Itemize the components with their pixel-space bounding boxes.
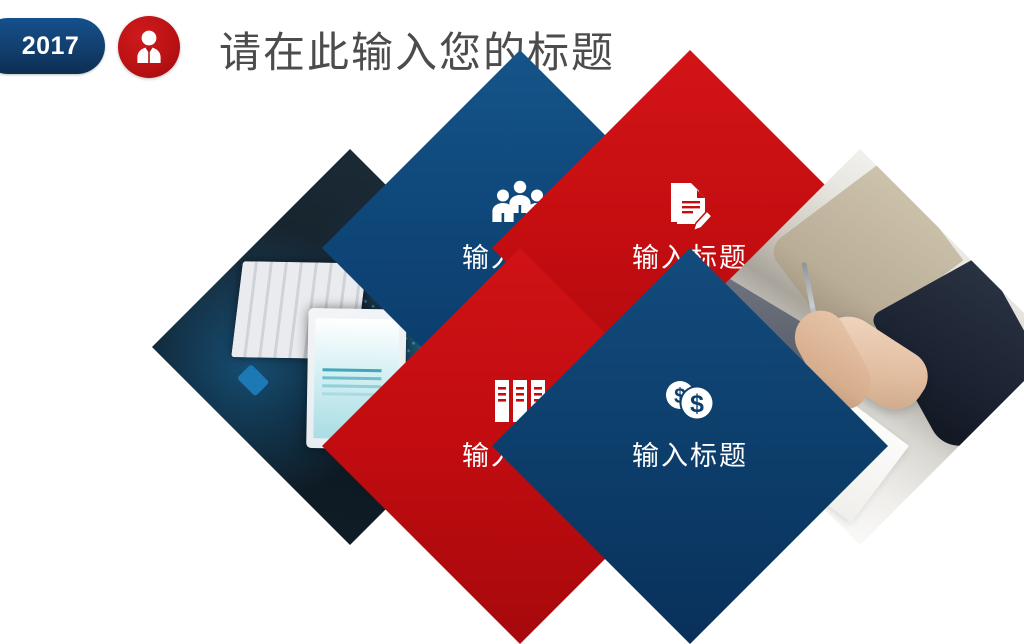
header-user-badge [118,16,180,78]
page-title: 请在此输入您的标题 [219,19,615,80]
diamond-cluster: 输入标题 输入标题 [175,149,855,545]
svg-text:$: $ [690,390,704,418]
user-icon [133,29,165,65]
diamond-label: 输入标题 [550,434,830,473]
tech-node-icon [237,364,270,397]
year-badge: 2017 [0,18,105,74]
dollar-coins-icon: $ $ [550,378,830,429]
year-badge-label: 2017 [0,18,105,74]
